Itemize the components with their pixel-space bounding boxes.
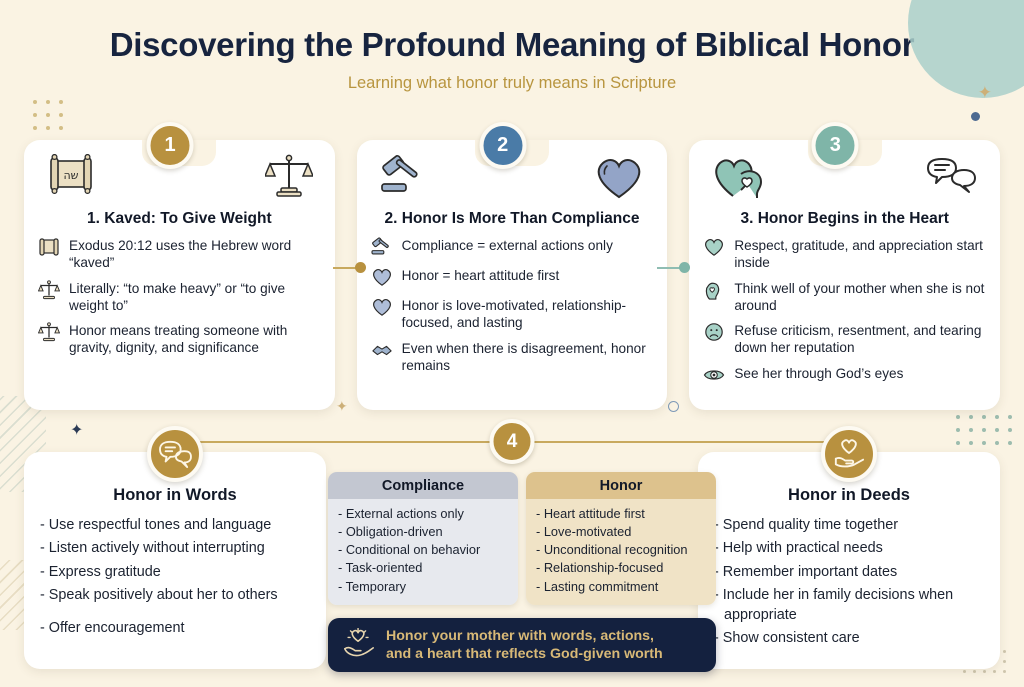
card-title: 2. Honor Is More Than Compliance <box>371 210 654 228</box>
list-item: - Include her in family decisions when a… <box>714 586 984 625</box>
heart-head-icon <box>703 280 725 302</box>
list-item: - Listen actively without interrupting <box>40 539 310 558</box>
card-bullets: Exodus 20:12 uses the Hebrew word “kaved… <box>38 238 321 357</box>
svg-text:שה: שה <box>64 169 79 182</box>
dot-grid-decoration-right <box>956 415 1012 445</box>
table-row: - Relationship-focused <box>536 559 706 577</box>
list-item: - Remember important dates <box>714 563 984 582</box>
eye-icon <box>703 365 725 387</box>
list-item: - Help with practical needs <box>714 539 984 558</box>
card-badge-2: 2 <box>479 122 526 169</box>
card-connector-2-3 <box>657 262 690 273</box>
bullet-text: Think well of your mother when she is no… <box>734 281 986 315</box>
table-body: - External actions only - Obligation-dri… <box>328 499 518 605</box>
handshake-icon <box>371 340 393 362</box>
banner-line-1: Honor your mother with words, actions, <box>386 627 663 645</box>
banner-line-2: and a heart that reflects God-given wort… <box>386 645 663 663</box>
heart-icon <box>371 267 393 289</box>
sad-face-icon <box>703 322 725 344</box>
heart-in-hand-icon <box>821 426 877 482</box>
list-item: - Spend quality time together <box>714 516 984 535</box>
bullet-text: Literally: “to make heavy” or “to give w… <box>69 281 321 315</box>
bullet-text: Honor is love-motivated, relationship-fo… <box>402 298 654 332</box>
concept-cards-row: 1 שה <box>24 140 1000 410</box>
speech-bubbles-icon <box>924 154 978 198</box>
bullet-item: Honor means treating someone with gravit… <box>38 323 321 357</box>
table-body: - Heart attitude first - Love-motivated … <box>526 499 716 605</box>
list-item: - Speak positively about her to others <box>40 586 310 605</box>
panel-list: - Use respectful tones and language - Li… <box>40 516 310 638</box>
table-row: - Unconditional recognition <box>536 541 706 559</box>
summary-banner: Honor your mother with words, actions, a… <box>328 618 716 672</box>
card-connector-1-2 <box>333 262 366 273</box>
bullet-text: See her through God’s eyes <box>734 366 986 383</box>
card-badge-1: 1 <box>147 122 194 169</box>
heart-icon <box>371 297 393 319</box>
bullet-text: Honor means treating someone with gravit… <box>69 323 321 357</box>
bullet-item: Compliance = external actions only <box>371 238 654 259</box>
panel-honor-in-deeds[interactable]: Honor in Deeds - Spend quality time toge… <box>698 452 1000 669</box>
table-compliance: Compliance - External actions only - Obl… <box>328 472 518 605</box>
table-row: - External actions only <box>338 505 508 523</box>
heart-icon <box>593 154 645 200</box>
bullet-item: Honor is love-motivated, relationship-fo… <box>371 298 654 332</box>
table-header: Compliance <box>328 472 518 499</box>
bullet-item: Even when there is disagreement, honor r… <box>371 341 654 375</box>
list-item: - Use respectful tones and language <box>40 516 310 535</box>
bullet-text: Respect, gratitude, and appreciation sta… <box>734 238 986 272</box>
bullet-text: Refuse criticism, resentment, and tearin… <box>734 323 986 357</box>
page-title: Discovering the Profound Meaning of Bibl… <box>0 26 1024 64</box>
bullet-text: Exodus 20:12 uses the Hebrew word “kaved… <box>69 238 321 272</box>
card-bullets: Respect, gratitude, and appreciation sta… <box>703 238 986 387</box>
bullet-text: Compliance = external actions only <box>402 238 654 255</box>
panel-honor-in-words[interactable]: Honor in Words - Use respectful tones an… <box>24 452 326 669</box>
bullet-item: Honor = heart attitude first <box>371 268 654 289</box>
table-row: - Obligation-driven <box>338 523 508 541</box>
balance-scales-icon <box>38 280 60 302</box>
bullet-item: Refuse criticism, resentment, and tearin… <box>703 323 986 357</box>
blue-dot-decoration <box>971 112 980 121</box>
list-item: - Show consistent care <box>714 629 984 648</box>
heart-icon <box>703 237 725 259</box>
heart-head-icon <box>711 154 769 200</box>
card-compliance[interactable]: 2 2. Honor Is More Than Compliance <box>357 140 668 410</box>
balance-scales-icon <box>38 322 60 344</box>
list-item: - Offer encouragement <box>40 619 310 638</box>
heart-in-hand-icon <box>342 628 376 662</box>
bullet-item: Think well of your mother when she is no… <box>703 281 986 315</box>
panel-list: - Spend quality time together - Help wit… <box>714 516 984 649</box>
card-badge-3: 3 <box>812 122 859 169</box>
panel-title: Honor in Deeds <box>714 486 984 505</box>
page-header: Discovering the Profound Meaning of Bibl… <box>0 0 1024 93</box>
card-kaved[interactable]: 1 שה <box>24 140 335 410</box>
bullet-item: See her through God’s eyes <box>703 366 986 387</box>
bullet-text: Honor = heart attitude first <box>402 268 654 285</box>
bullet-item: Respect, gratitude, and appreciation sta… <box>703 238 986 272</box>
card-heart[interactable]: 3 3. Honor Begins in the Heart <box>689 140 1000 410</box>
bullet-item: Literally: “to make heavy” or “to give w… <box>38 281 321 315</box>
card-title: 1. Kaved: To Give Weight <box>38 210 321 228</box>
table-row: - Heart attitude first <box>536 505 706 523</box>
balance-scales-icon <box>265 154 313 198</box>
table-row: - Task-oriented <box>338 559 508 577</box>
table-row: - Conditional on behavior <box>338 541 508 559</box>
gavel-icon <box>379 154 429 198</box>
table-honor: Honor - Heart attitude first - Love-moti… <box>526 472 716 605</box>
torah-scroll-icon: שה <box>46 154 96 196</box>
table-row: - Love-motivated <box>536 523 706 541</box>
card-title: 3. Honor Begins in the Heart <box>703 210 986 228</box>
banner-text: Honor your mother with words, actions, a… <box>386 627 663 663</box>
card-bullets: Compliance = external actions only Honor… <box>371 238 654 374</box>
sparkle-icon-left: ✦ <box>70 423 83 439</box>
panel-title: Honor in Words <box>40 486 310 505</box>
bullet-item: Exodus 20:12 uses the Hebrew word “kaved… <box>38 238 321 272</box>
page-subtitle: Learning what honor truly means in Scrip… <box>0 74 1024 93</box>
torah-scroll-icon <box>38 237 60 259</box>
gavel-icon <box>371 237 393 259</box>
table-row: - Lasting commitment <box>536 578 706 596</box>
dot-grid-decoration-top-left <box>33 100 63 130</box>
speech-bubbles-icon <box>147 426 203 482</box>
table-header: Honor <box>526 472 716 499</box>
list-item: - Express gratitude <box>40 563 310 582</box>
bullet-text: Even when there is disagreement, honor r… <box>402 341 654 375</box>
table-row: - Temporary <box>338 578 508 596</box>
comparison-tables: Compliance - External actions only - Obl… <box>328 472 716 605</box>
section4-badge: 4 <box>490 419 535 464</box>
